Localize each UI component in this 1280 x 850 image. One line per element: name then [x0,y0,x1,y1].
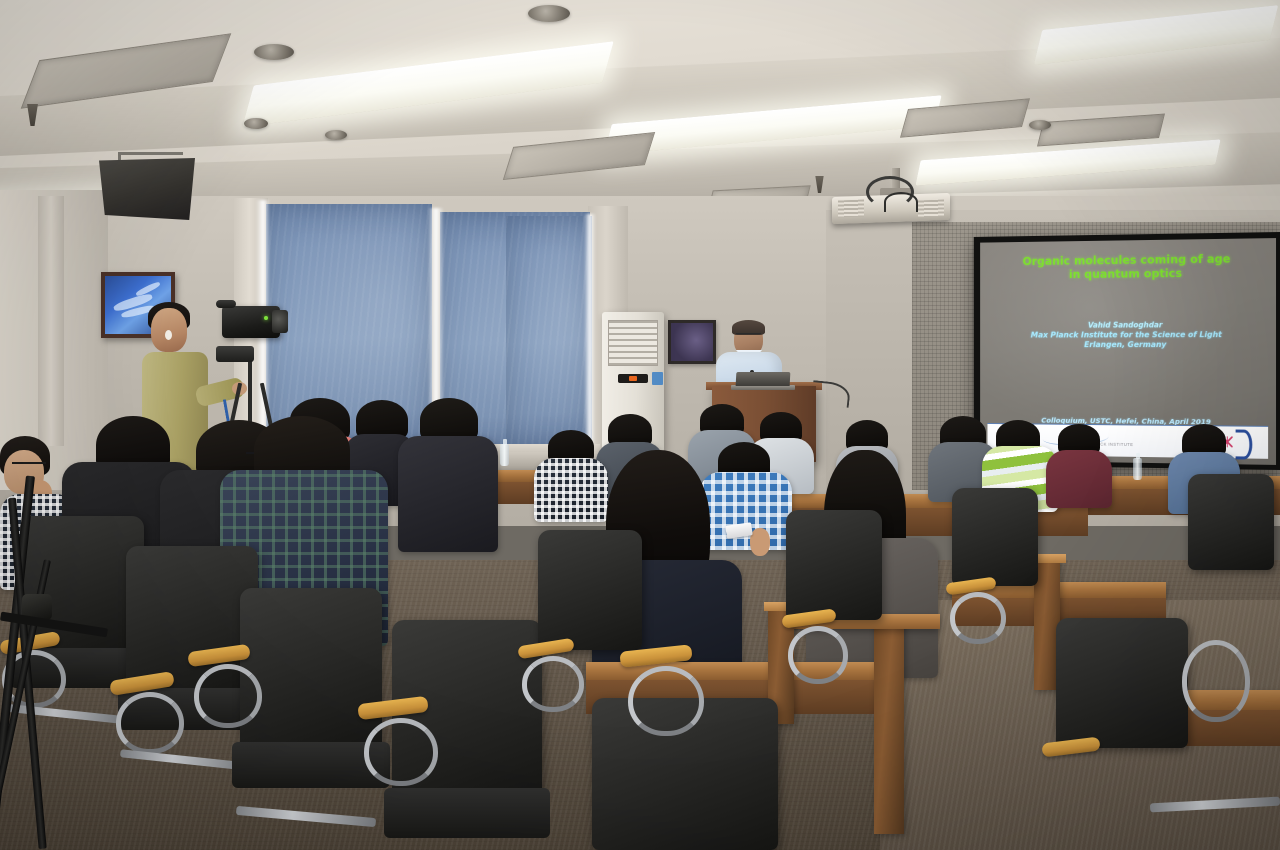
wall-speaker-box [99,158,195,220]
podium-laptop [736,372,791,386]
chair-backrest[interactable] [786,510,882,620]
water-bottle [1133,458,1142,480]
camera-record-led-icon [264,316,268,320]
chair-backrest[interactable] [1188,474,1274,570]
framed-artwork-dark [668,320,716,364]
projector-vent [838,200,864,218]
chair-backrest[interactable] [952,488,1038,586]
slide-city: Erlangen, Germany [980,340,1276,350]
camera-microphone-icon [216,300,236,308]
ceiling-downlight [254,44,294,60]
chair-backrest[interactable] [240,588,382,750]
ceiling-downlight [244,118,268,129]
desk-end-panel [874,622,904,834]
audience-member-maroon [1046,450,1112,508]
tripod-head [216,346,254,362]
ac-power-led-icon [629,376,637,381]
audience-member-checkered [534,458,608,522]
slide-affiliation: Max Planck Institute for the Science of … [980,330,1276,340]
chair-seat[interactable] [384,788,550,838]
slide-author: Vahid Sandoghdar [980,320,1276,330]
projector-vent [918,200,944,218]
logo-bracket-icon [1236,430,1253,460]
chair-chrome-frame [522,656,584,712]
projector-cable [884,192,918,212]
chair-chrome-frame [1182,640,1250,722]
ac-grille [608,320,658,366]
wall-pillar [38,196,64,446]
window-blind [506,216,592,446]
ceiling-downlight [325,130,347,140]
window-light-edge [584,214,596,450]
audience-member-blue-plaid [700,472,792,550]
slide-title: Organic molecules coming of age in quant… [980,252,1276,282]
chair-backrest[interactable] [1056,618,1188,748]
speaker-glasses-icon [736,333,761,339]
woman-hand [750,528,770,556]
ceiling-downlight [1029,120,1051,130]
camera-lens-icon [272,310,288,333]
chair-chrome-frame [364,718,438,786]
ceiling-downlight [528,5,570,22]
cameraman-earpiece-icon [165,330,172,340]
chair-backrest[interactable] [538,530,642,650]
chair-chrome-frame [950,592,1006,644]
chair-chrome-frame [194,664,262,728]
eyeglasses-icon [12,462,46,470]
ac-badge [652,372,663,385]
chair-chrome-frame [788,626,848,684]
chair-chrome-frame [628,666,704,736]
audience-member-black-front [398,436,498,552]
lecture-hall-photo: Organic molecules coming of age in quant… [0,0,1280,850]
chair-chrome-frame [116,692,184,754]
water-bottle [500,444,509,466]
